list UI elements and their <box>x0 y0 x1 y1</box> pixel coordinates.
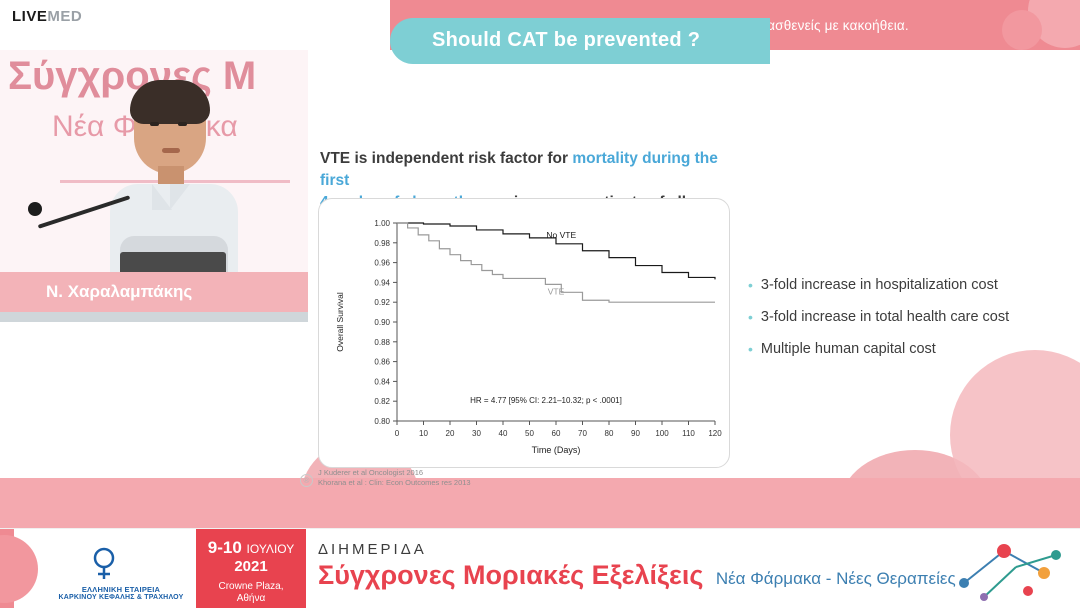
svg-text:0.94: 0.94 <box>374 278 390 287</box>
livemed-logo[interactable]: LIVEMED <box>12 8 82 25</box>
brand-med: MED <box>47 8 82 25</box>
bullet-text: Multiple human capital cost <box>761 340 936 358</box>
bullet-text: 3-fold increase in hospitalization cost <box>761 276 998 294</box>
svg-text:Overall Survival: Overall Survival <box>335 292 345 352</box>
kaplan-meier-plot: 1.000.980.960.940.920.900.880.860.840.82… <box>319 199 731 469</box>
svg-text:30: 30 <box>472 429 481 438</box>
event-title: Σύγχρονες Μοριακές Εξελίξεις <box>318 560 703 591</box>
molecular-artwork-icon <box>944 533 1074 605</box>
svg-text:70: 70 <box>578 429 587 438</box>
svg-text:0: 0 <box>395 429 400 438</box>
bullet-dot-icon: • <box>748 276 753 294</box>
app-root: LIVEMED Ενδείξεις θρομβοπροφύλαξης σε ασ… <box>0 0 1080 608</box>
svg-text:1.00: 1.00 <box>374 219 390 228</box>
svg-text:60: 60 <box>552 429 561 438</box>
event-kicker: ΔΙΗΜΕΡΙΔΑ <box>318 541 956 558</box>
bullet-text: 3-fold increase in total health care cos… <box>761 308 1009 326</box>
cost-bullet-list: • 3-fold increase in hospitalization cos… <box>748 276 1068 372</box>
event-date-month: ΙΟΥΛΙΟΥ <box>247 542 295 556</box>
headline-part-1: VTE is independent risk factor for <box>320 150 572 167</box>
speaker-name-tag: Ν. Χαραλαμπάκης <box>0 272 308 312</box>
svg-text:100: 100 <box>655 429 669 438</box>
slide-title-container: Should CAT be prevented ? <box>390 18 770 64</box>
speaker-collar-right <box>170 184 190 210</box>
svg-text:80: 80 <box>605 429 614 438</box>
svg-text:10: 10 <box>419 429 428 438</box>
slide-title-bar: Should CAT be prevented ? <box>390 18 770 64</box>
svg-text:0.88: 0.88 <box>374 338 390 347</box>
bottom-left-circle <box>0 535 38 603</box>
svg-text:HR = 4.77 [95% CI: 2.21–10.32;: HR = 4.77 [95% CI: 2.21–10.32; p < .0001… <box>470 396 622 405</box>
reference-logo-icon: ® <box>300 474 313 487</box>
svg-text:90: 90 <box>631 429 640 438</box>
survival-chart: 1.000.980.960.940.920.900.880.860.840.82… <box>318 198 730 468</box>
banner-decoration <box>970 0 1080 50</box>
event-date-box: 9-10 ΙΟΥΛΙΟΥ 2021 Crowne Plaza, Αθήνα <box>196 529 306 608</box>
svg-text:0.96: 0.96 <box>374 259 390 268</box>
references: J Kuderer et al Oncologist 2016 Khorana … <box>318 468 618 488</box>
list-item: • 3-fold increase in total health care c… <box>748 308 1068 326</box>
svg-text:0.92: 0.92 <box>374 298 390 307</box>
list-item: • Multiple human capital cost <box>748 340 1068 358</box>
svg-text:0.80: 0.80 <box>374 417 390 426</box>
speaker-hair <box>130 80 210 124</box>
svg-text:110: 110 <box>682 429 695 438</box>
svg-text:0.82: 0.82 <box>374 397 390 406</box>
svg-text:50: 50 <box>525 429 534 438</box>
banner-circle-small <box>1002 10 1042 50</box>
microphone-head-icon <box>28 202 42 216</box>
svg-text:0.84: 0.84 <box>374 377 390 386</box>
event-subtitle: Νέα Φάρμακα - Νέες Θεραπείες <box>716 569 956 589</box>
society-name-line-1: ΕΛΛΗΝΙΚΗ ΕΤΑΙΡΕΙΑ <box>46 585 196 594</box>
reference-line: Khorana et al : Clin: Econ Outcomes res … <box>318 478 618 488</box>
society-name-line-2: ΚΑΡΚΙΝΟΥ ΚΕΦΑΛΗΣ & ΤΡΑΧΗΛΟΥ <box>46 594 196 601</box>
venue-line-2: Αθήνα <box>196 593 306 605</box>
bullet-dot-icon: • <box>748 308 753 326</box>
svg-text:0.86: 0.86 <box>374 358 390 367</box>
bullet-dot-icon: • <box>748 340 753 358</box>
venue-line-1: Crowne Plaza, <box>196 581 306 593</box>
event-branding: ΔΙΗΜΕΡΙΔΑ Σύγχρονες Μοριακές Εξελίξεις Ν… <box>318 541 956 591</box>
bottom-bar: ΕΛΛΗΝΙΚΗ ΕΤΑΙΡΕΙΑ ΚΑΡΚΙΝΟΥ ΚΕΦΑΛΗΣ & ΤΡΑ… <box>0 528 1080 608</box>
slide-title: Should CAT be prevented ? <box>432 29 700 52</box>
speaker-mouth <box>162 148 180 153</box>
svg-text:No VTE: No VTE <box>546 230 576 240</box>
svg-text:40: 40 <box>499 429 508 438</box>
list-item: • 3-fold increase in hospitalization cos… <box>748 276 1068 294</box>
svg-text:0.98: 0.98 <box>374 239 390 248</box>
speaker-eye-left <box>150 122 159 126</box>
brand-live: LIVE <box>12 8 47 25</box>
svg-text:20: 20 <box>446 429 455 438</box>
svg-text:0.90: 0.90 <box>374 318 390 327</box>
society-emblem-icon <box>90 547 118 581</box>
speaker-name: Ν. Χαραλαμπάκης <box>46 282 192 302</box>
speaker-eye-right <box>178 122 187 126</box>
speaker-collar-left <box>152 184 172 210</box>
svg-text:120: 120 <box>708 429 722 438</box>
event-date-year: 2021 <box>196 558 306 575</box>
reference-line: J Kuderer et al Oncologist 2016 <box>318 468 618 478</box>
svg-text:VTE: VTE <box>548 286 565 296</box>
event-date-days: 9-10 <box>208 538 242 557</box>
svg-text:Time (Days): Time (Days) <box>532 445 581 455</box>
